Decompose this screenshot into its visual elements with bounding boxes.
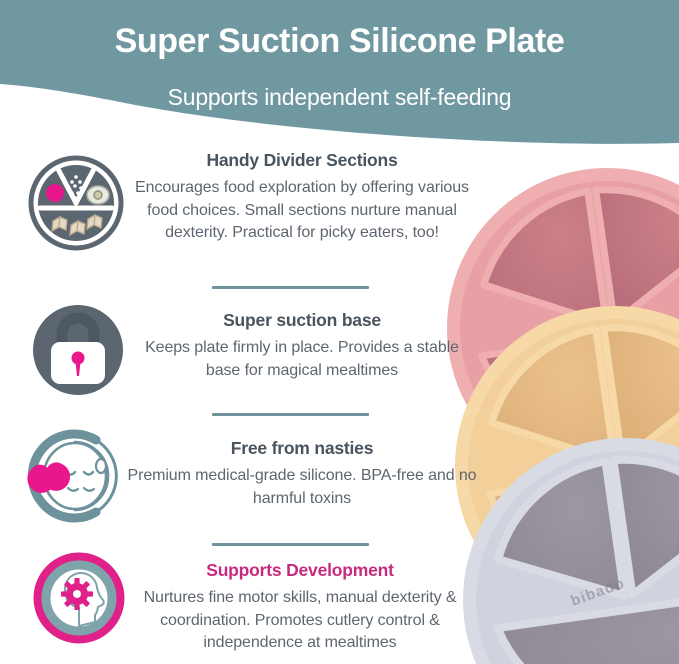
feature-description: Keeps plate firmly in place. Provides a … (126, 337, 478, 382)
page-subtitle: Supports independent self-feeding (0, 84, 679, 111)
feature-title: Free from nasties (126, 438, 478, 459)
section-divider-1 (212, 286, 369, 289)
section-divider-2 (212, 413, 369, 416)
feature-title: Supports Development (114, 560, 486, 581)
feature-description: Nurtures fine motor skills, manual dexte… (114, 587, 486, 655)
divided-plate-icon (28, 155, 124, 256)
feature-description: Encourages food exploration by offering … (126, 177, 478, 245)
padlock-icon (30, 302, 126, 403)
baby-face-heart-icon (22, 426, 130, 531)
feature-title: Handy Divider Sections (126, 150, 478, 171)
section-divider-3 (212, 543, 369, 546)
header-banner: Super Suction Silicone Plate Supports in… (0, 0, 679, 150)
page-title: Super Suction Silicone Plate (0, 22, 679, 61)
feature-description: Premium medical-grade silicone. BPA-free… (126, 465, 478, 510)
feature-title: Super suction base (126, 310, 478, 331)
product-infographic: Super Suction Silicone Plate Supports in… (0, 0, 679, 664)
head-gear-icon (33, 552, 125, 649)
